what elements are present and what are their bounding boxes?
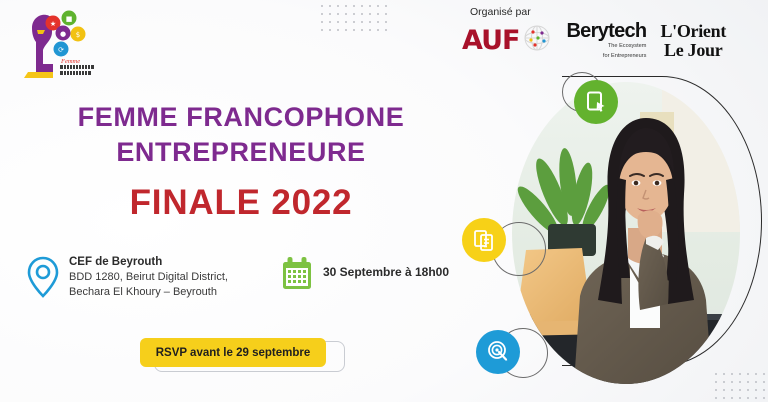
- sponsors-heading: Organisé par: [470, 6, 762, 18]
- venue-name: CEF de Beyrouth: [69, 255, 228, 270]
- date-info: 30 Septembre à 18h00: [280, 255, 449, 298]
- svg-text:⟳: ⟳: [58, 46, 64, 54]
- berytech-logo: Berytech The Ecosystem for Entrepreneurs: [566, 21, 646, 60]
- globe-network-icon: [522, 23, 552, 58]
- headline-finale: FINALE 2022: [46, 183, 436, 223]
- svg-text:$: $: [76, 31, 80, 39]
- document-form-badge: [462, 218, 506, 262]
- document-form-icon: [472, 228, 496, 252]
- poster-canvas: ★ ■ ● $ ⟳ Femme: [0, 0, 768, 402]
- lorient-line-1: L'Orient: [660, 22, 726, 40]
- headline-line-1: FEMME FRANCOPHONE: [46, 100, 436, 135]
- dot-grid-top-icon: [318, 2, 390, 32]
- target-arrow-icon: [486, 340, 510, 364]
- event-info: CEF de Beyrouth BDD 1280, Beirut Digital…: [26, 255, 449, 304]
- venue-address-line-2: Bechara El Khoury – Beyrouth: [69, 285, 228, 300]
- lorient-le-jour-logo: L'Orient Le Jour: [660, 22, 726, 59]
- berytech-tagline-1: The Ecosystem: [608, 43, 647, 51]
- berytech-wordmark: Berytech: [566, 21, 646, 41]
- lorient-line-2: Le Jour: [660, 41, 726, 59]
- businesswoman-photo: [512, 82, 740, 384]
- venue-address-line-1: BDD 1280, Beirut Digital District,: [69, 270, 228, 285]
- tablet-cursor-icon: [584, 90, 608, 114]
- page-title: FEMME FRANCOPHONE ENTREPRENEURE FINALE 2…: [46, 100, 436, 223]
- target-search-badge: [476, 330, 520, 374]
- headline-line-2: ENTREPRENEURE: [46, 135, 436, 170]
- calendar-icon: [280, 255, 314, 298]
- auf-wordmark: AUF: [462, 27, 519, 54]
- tablet-click-badge: [574, 80, 618, 124]
- photo-zone: [470, 72, 768, 402]
- rsvp-area: RSVP avant le 29 septembre: [140, 338, 345, 372]
- svg-text:★: ★: [50, 20, 56, 28]
- femme-francophone-entrepreneure-logo: ★ ■ ● $ ⟳ Femme: [12, 6, 98, 88]
- location-pin-icon: [26, 255, 60, 304]
- venue-info: CEF de Beyrouth BDD 1280, Beirut Digital…: [26, 255, 228, 304]
- rsvp-button[interactable]: RSVP avant le 29 septembre: [140, 338, 326, 367]
- berytech-tagline-2: for Entrepreneurs: [603, 53, 647, 61]
- auf-logo: AUF: [462, 23, 552, 58]
- svg-text:Femme: Femme: [60, 58, 80, 65]
- svg-text:■: ■: [66, 15, 73, 23]
- sponsors-block: Organisé par AUF: [462, 6, 762, 60]
- svg-text:●: ●: [60, 30, 66, 38]
- event-date: 30 Septembre à 18h00: [323, 255, 449, 279]
